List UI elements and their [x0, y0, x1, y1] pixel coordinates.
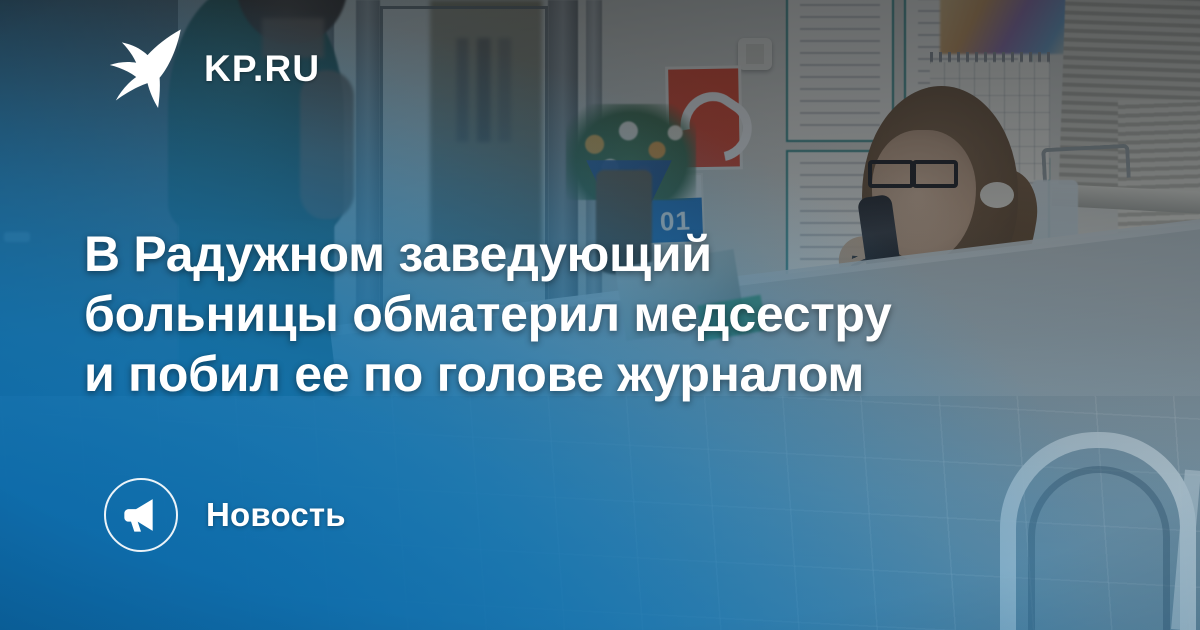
news-share-card: 01 KP.RU [0, 0, 1200, 630]
badge-label: Новость [206, 496, 346, 534]
card-content: KP.RU В Радужном заведующий больницы обм… [0, 0, 1200, 630]
megaphone-icon-circle [104, 478, 178, 552]
megaphone-icon [121, 495, 161, 535]
swallow-bird-icon [108, 28, 184, 108]
brand-name: KP.RU [204, 50, 320, 87]
headline-line-3: и побил ее по голове журналом [84, 344, 1084, 404]
status-badge[interactable]: Новость [104, 478, 346, 552]
headline-line-1: В Радужном заведующий [84, 224, 1084, 284]
brand-logo[interactable]: KP.RU [108, 28, 320, 108]
headline-line-2: больницы обматерил медсестру [84, 284, 1084, 344]
page-title: В Радужном заведующий больницы обматерил… [84, 224, 1084, 404]
